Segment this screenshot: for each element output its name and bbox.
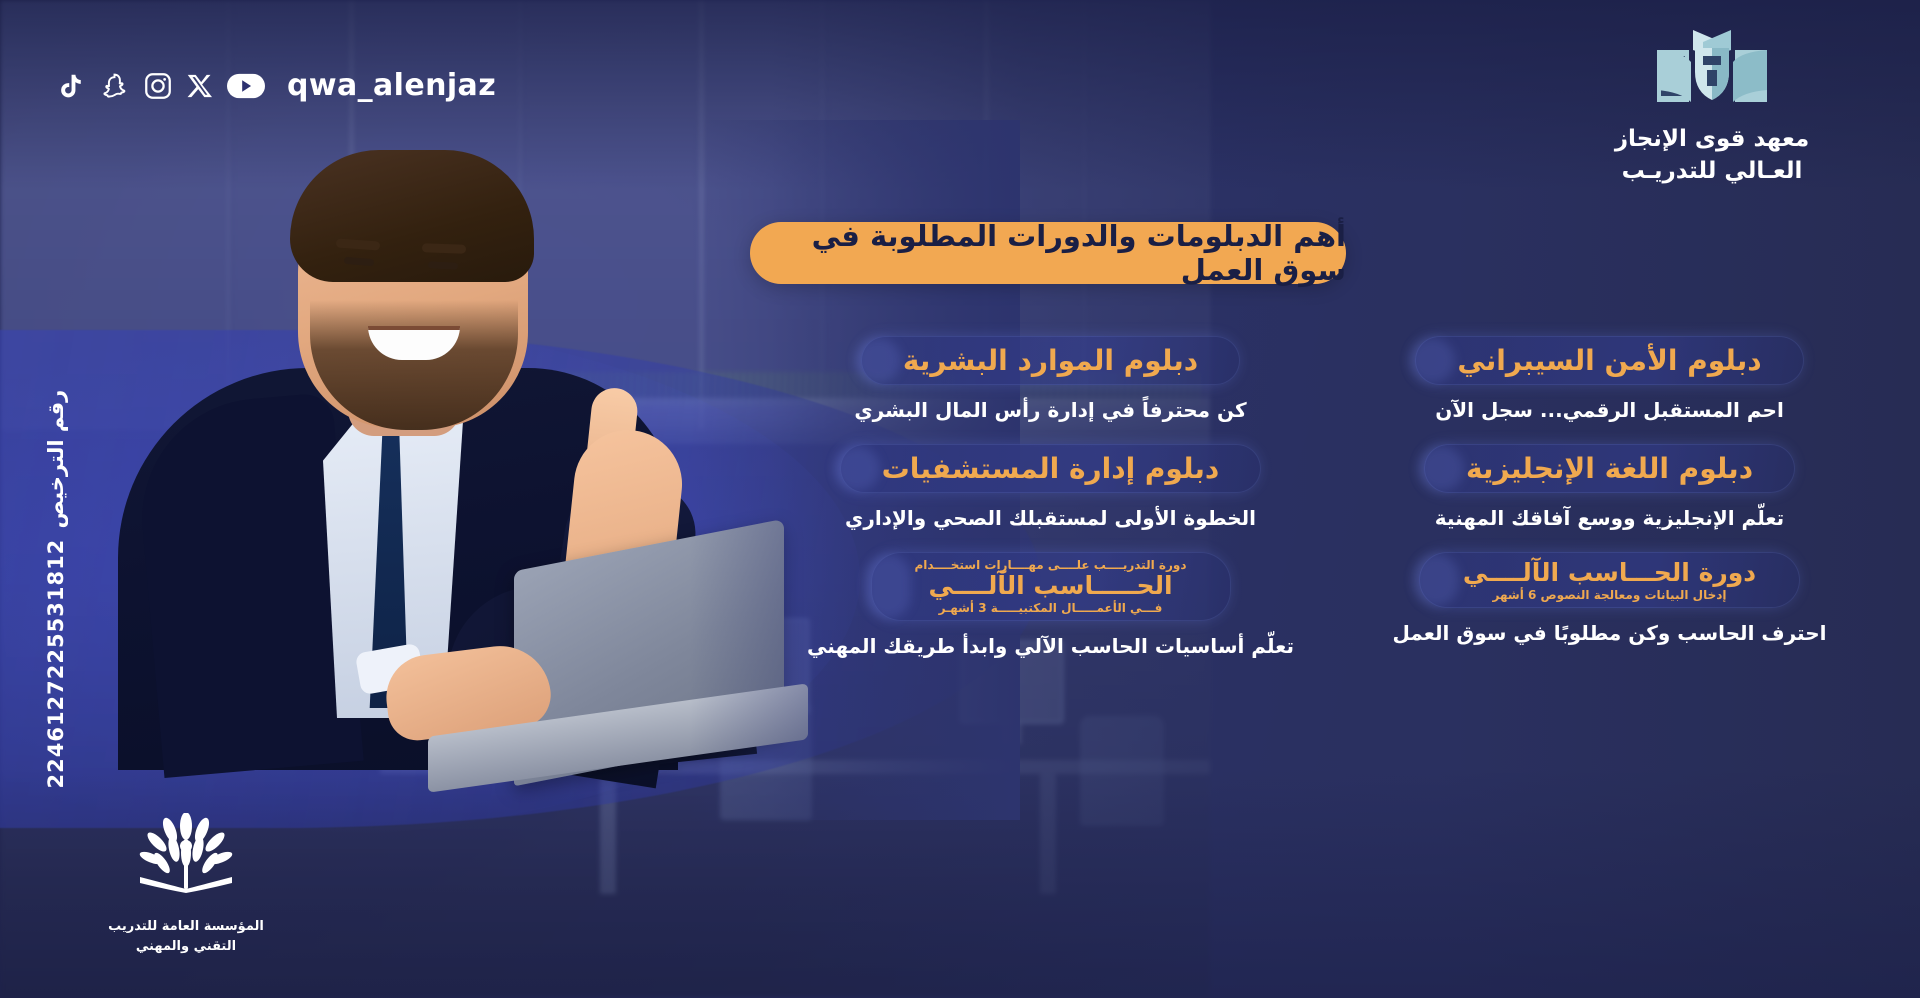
tvtc-name-line1: المؤسسة العامة للتدريب xyxy=(96,917,276,937)
course-title-pill[interactable]: دورة التدريــــب علــــى مهــــارات استخ… xyxy=(871,552,1231,621)
tvtc-palm-logo xyxy=(96,813,276,913)
course-title-pill[interactable]: دبلوم الموارد البشرية xyxy=(861,336,1240,385)
promo-banner: qwa_alenjaz معهد قوى xyxy=(0,0,1920,998)
course-title: دورة الحـــاسب الآلــــي xyxy=(1463,558,1756,588)
course-grid: دبلوم الأمن السيبراني احم المستقبل الرقم… xyxy=(780,336,1880,658)
social-handle[interactable]: qwa_alenjaz xyxy=(287,68,496,103)
course-subtitle: تعلّم الإنجليزية ووسع آفاقك المهنية xyxy=(1339,506,1880,530)
licence-number: رقم الترخيص 2246127225531812 xyxy=(44,390,68,789)
course-card-hospital-management[interactable]: دبلوم إدارة المستشفيات الخطوة الأولى لمس… xyxy=(780,444,1321,530)
course-detail: إدخال البيانات ومعالجة النصوص 6 أشهر xyxy=(1493,588,1727,602)
tvtc-name-line2: التقني والمهني xyxy=(96,937,276,957)
course-title: دبلوم الموارد البشرية xyxy=(903,344,1198,377)
instagram-icon[interactable] xyxy=(143,71,173,101)
social-links-row[interactable]: qwa_alenjaz xyxy=(56,68,496,103)
course-subtitle: احترف الحاسب وكن مطلوبًا في سوق العمل xyxy=(1339,621,1880,645)
institute-name-line1: معهد قوى الإنجاز xyxy=(1562,124,1862,156)
course-top-line: دورة التدريــــب علــــى مهــــارات استخ… xyxy=(915,558,1187,572)
course-title-pill[interactable]: دورة الحـــاسب الآلــــي إدخال البيانات … xyxy=(1419,552,1800,608)
licence-value: 2246127225531812 xyxy=(44,539,68,789)
institute-logo-block: معهد قوى الإنجاز العـالي للتدريـب xyxy=(1562,26,1862,187)
course-subtitle: تعلّم أساسيات الحاسب الآلي وابدأ طريقك ا… xyxy=(780,634,1321,658)
course-subtitle: كن محترفاً في إدارة رأس المال البشري xyxy=(780,398,1321,422)
licence-label: رقم الترخيص xyxy=(44,390,68,529)
tvtc-logo-block: المؤسسة العامة للتدريب التقني والمهني xyxy=(96,813,276,956)
course-card-computer-3-months[interactable]: دورة التدريــــب علــــى مهــــارات استخ… xyxy=(780,552,1321,658)
course-bottom-line: فـــي الأعمـــــال المكتبيـــــة 3 أشهـر xyxy=(939,601,1163,615)
x-twitter-icon[interactable] xyxy=(186,72,214,100)
course-card-computer-6-months[interactable]: دورة الحـــاسب الآلــــي إدخال البيانات … xyxy=(1339,552,1880,658)
institute-name-line2: العـالي للتدريـب xyxy=(1562,156,1862,188)
course-title: الحـــــاسب الآلــــي xyxy=(928,571,1172,601)
course-subtitle: احم المستقبل الرقمي... سجل الآن xyxy=(1339,398,1880,422)
course-title: دبلوم اللغة الإنجليزية xyxy=(1466,452,1753,485)
course-title: دبلوم إدارة المستشفيات xyxy=(882,452,1220,485)
course-subtitle: الخطوة الأولى لمستقبلك الصحي والإداري xyxy=(780,506,1321,530)
course-title-pill[interactable]: دبلوم اللغة الإنجليزية xyxy=(1424,444,1795,493)
course-title: دبلوم الأمن السيبراني xyxy=(1457,344,1761,377)
book-shield-logo xyxy=(1562,26,1862,114)
course-card-english[interactable]: دبلوم اللغة الإنجليزية تعلّم الإنجليزية … xyxy=(1339,444,1880,530)
course-title-pill[interactable]: دبلوم إدارة المستشفيات xyxy=(840,444,1262,493)
snapchat-icon[interactable] xyxy=(99,70,130,102)
headline-banner: أهم الدبلومات والدورات المطلوبة في سوق ا… xyxy=(750,222,1346,284)
tiktok-icon[interactable] xyxy=(56,70,86,102)
bottom-overlay-wash xyxy=(0,768,1920,998)
course-card-human-resources[interactable]: دبلوم الموارد البشرية كن محترفاً في إدار… xyxy=(780,336,1321,422)
course-title-pill[interactable]: دبلوم الأمن السيبراني xyxy=(1415,336,1803,385)
youtube-icon[interactable] xyxy=(227,72,265,100)
course-card-cybersecurity[interactable]: دبلوم الأمن السيبراني احم المستقبل الرقم… xyxy=(1339,336,1880,422)
